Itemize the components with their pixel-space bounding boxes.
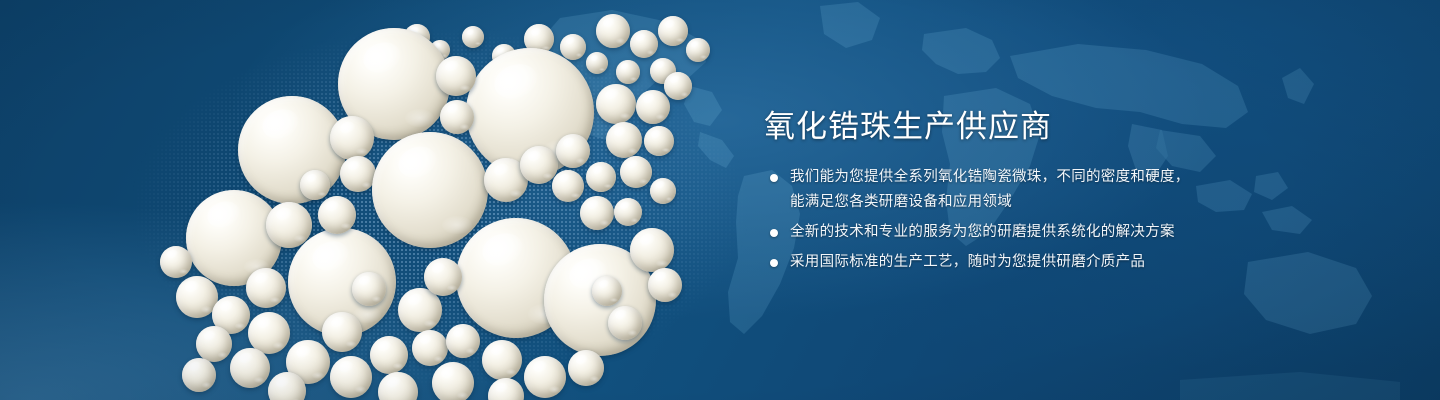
list-item-line: 能满足您各类研磨设备和应用领域 bbox=[790, 190, 1234, 215]
bead bbox=[182, 358, 216, 392]
bead bbox=[462, 26, 484, 48]
page-title: 氧化锆珠生产供应商 bbox=[764, 106, 1234, 148]
bead bbox=[644, 126, 674, 156]
bead bbox=[650, 178, 676, 204]
bead bbox=[524, 24, 554, 54]
bead bbox=[398, 288, 442, 332]
bead bbox=[248, 312, 290, 354]
list-item: 采用国际标准的生产工艺，随时为您提供研磨介质产品 bbox=[764, 250, 1234, 275]
bead bbox=[492, 44, 516, 68]
bead bbox=[212, 296, 250, 334]
bead bbox=[456, 218, 576, 338]
bead bbox=[286, 340, 330, 384]
bead bbox=[446, 324, 480, 358]
bead bbox=[658, 16, 688, 46]
bead bbox=[664, 72, 692, 100]
bead bbox=[300, 170, 330, 200]
bead bbox=[488, 378, 524, 400]
bead bbox=[630, 228, 674, 272]
bead bbox=[648, 268, 682, 302]
bead bbox=[246, 268, 286, 308]
bead bbox=[586, 52, 608, 74]
bead bbox=[330, 356, 372, 398]
bead bbox=[322, 312, 362, 352]
bead bbox=[544, 244, 656, 356]
bead bbox=[424, 258, 462, 296]
banner-copy: 氧化锆珠生产供应商 我们能为您提供全系列氧化锆陶瓷微珠，不同的密度和硬度， 能满… bbox=[764, 106, 1234, 275]
bead bbox=[606, 122, 642, 158]
bead bbox=[330, 116, 374, 160]
bead bbox=[352, 272, 386, 306]
hero-banner: 氧化锆珠生产供应商 我们能为您提供全系列氧化锆陶瓷微珠，不同的密度和硬度， 能满… bbox=[0, 0, 1440, 400]
bead bbox=[288, 228, 396, 336]
bead bbox=[482, 340, 522, 380]
bead bbox=[596, 84, 636, 124]
list-item-line: 采用国际标准的生产工艺，随时为您提供研磨介质产品 bbox=[790, 250, 1234, 275]
bead bbox=[378, 372, 418, 400]
bead bbox=[650, 58, 676, 84]
bead bbox=[616, 60, 640, 84]
bead bbox=[338, 28, 450, 140]
bead bbox=[592, 276, 622, 306]
bead bbox=[266, 202, 312, 248]
bead bbox=[484, 158, 528, 202]
bead bbox=[552, 170, 584, 202]
bead bbox=[560, 34, 586, 60]
bead bbox=[556, 134, 590, 168]
bead bbox=[440, 100, 474, 134]
halftone-dot-texture bbox=[120, 0, 760, 400]
bead bbox=[636, 90, 670, 124]
bead bbox=[466, 48, 594, 176]
bead bbox=[372, 132, 488, 248]
bead bbox=[432, 362, 474, 400]
bead bbox=[318, 196, 356, 234]
list-item-line: 全新的技术和专业的服务为您的研磨提供系统化的解决方案 bbox=[790, 220, 1234, 245]
bead bbox=[370, 336, 408, 374]
bead bbox=[196, 326, 232, 362]
bead bbox=[568, 350, 604, 386]
bead bbox=[404, 24, 430, 50]
bead bbox=[586, 162, 616, 192]
bullet-dot-icon bbox=[770, 174, 778, 182]
bead bbox=[580, 196, 614, 230]
bead bbox=[412, 330, 448, 366]
bead bbox=[430, 40, 450, 60]
list-item-line: 我们能为您提供全系列氧化锆陶瓷微珠，不同的密度和硬度， bbox=[790, 165, 1234, 190]
bead bbox=[436, 56, 476, 96]
bead bbox=[186, 190, 282, 286]
bead bbox=[160, 246, 192, 278]
bead bbox=[230, 348, 270, 388]
bead bbox=[340, 156, 376, 192]
zirconia-bead-cluster bbox=[0, 0, 760, 400]
list-item: 全新的技术和专业的服务为您的研磨提供系统化的解决方案 bbox=[764, 220, 1234, 245]
bead bbox=[176, 276, 218, 318]
bead bbox=[620, 156, 652, 188]
bead bbox=[268, 372, 306, 400]
bead bbox=[520, 146, 558, 184]
bead bbox=[630, 30, 658, 58]
bead bbox=[238, 96, 346, 204]
bullet-dot-icon bbox=[770, 229, 778, 237]
bead bbox=[686, 38, 710, 62]
bullet-dot-icon bbox=[770, 259, 778, 267]
bead bbox=[524, 356, 566, 398]
bead bbox=[608, 306, 642, 340]
bead bbox=[614, 198, 642, 226]
list-item: 我们能为您提供全系列氧化锆陶瓷微珠，不同的密度和硬度， 能满足您各类研磨设备和应… bbox=[764, 165, 1234, 215]
feature-list: 我们能为您提供全系列氧化锆陶瓷微珠，不同的密度和硬度， 能满足您各类研磨设备和应… bbox=[764, 165, 1234, 275]
bead bbox=[596, 14, 630, 48]
